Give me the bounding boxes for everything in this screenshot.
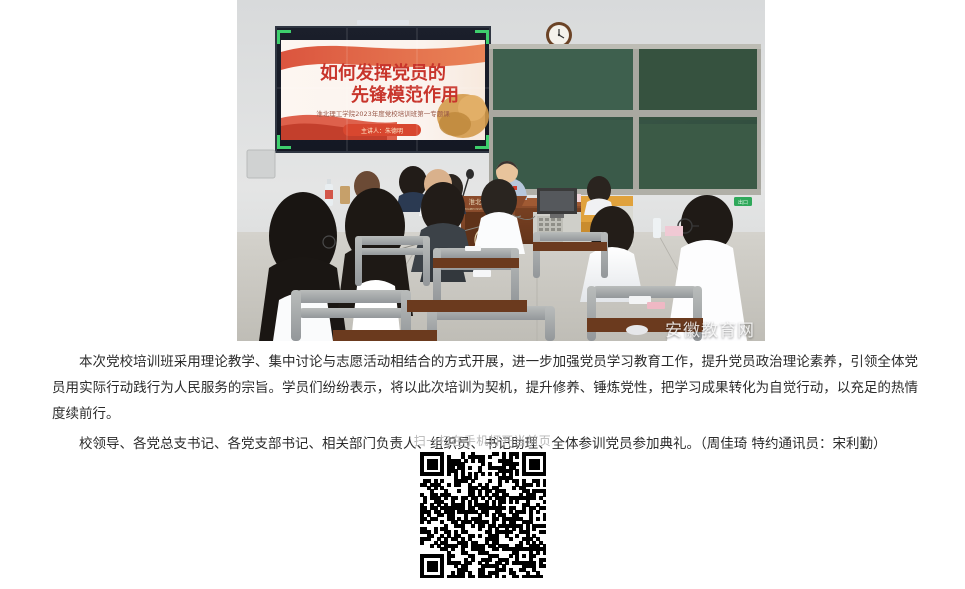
classroom-photo-illustration: 如何发挥党员的 先锋模范作用 淮北理工学院2023年度党校培训班第一专题课 主讲… — [237, 0, 765, 341]
qr-block: 扫一扫在手机打开当前页 — [0, 432, 965, 578]
qr-code-icon — [420, 452, 546, 578]
slide-title-line2: 先锋模范作用 — [351, 84, 459, 106]
svg-text:出口: 出口 — [738, 199, 748, 206]
projection-screen: 如何发挥党员的 先锋模范作用 淮北理工学院2023年度党校培训班第一专题课 主讲… — [275, 20, 491, 153]
blackboard — [489, 44, 761, 195]
slide-badge: 主讲人：朱德明 — [361, 127, 403, 135]
article-paragraph-1: 本次党校培训班采用理论教学、集中讨论与志愿活动相结合的方式开展，进一步加强党员学… — [52, 349, 918, 427]
article-photo: 如何发挥党员的 先锋模范作用 淮北理工学院2023年度党校培训班第一专题课 主讲… — [237, 0, 765, 341]
qr-caption: 扫一扫在手机打开当前页 — [0, 432, 965, 450]
slide-title-line1: 如何发挥党员的 — [320, 62, 446, 84]
slide-subtitle: 淮北理工学院2023年度党校培训班第一专题课 — [316, 109, 450, 118]
